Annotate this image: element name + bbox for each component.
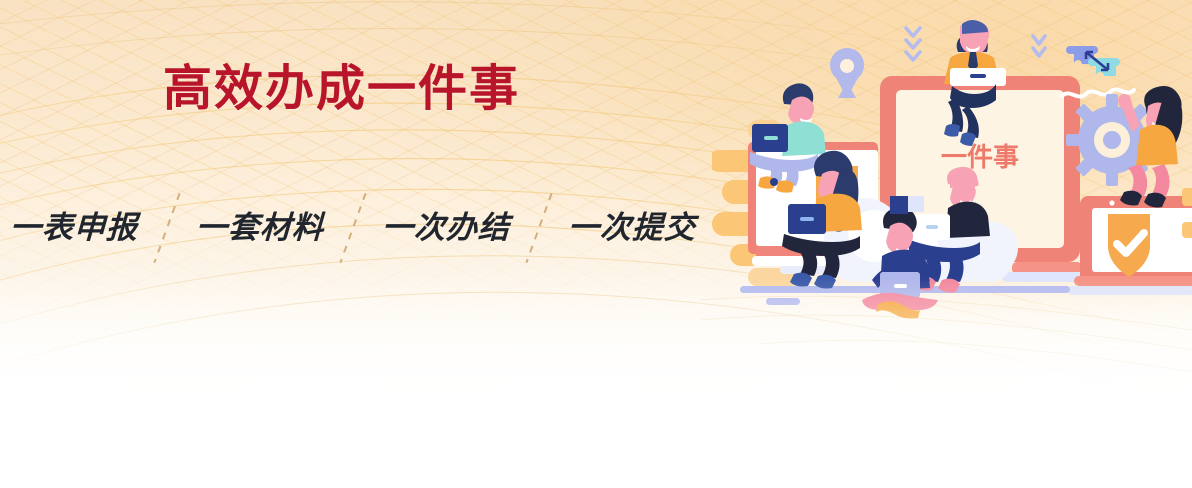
subtitle-item-1: 一表申报 <box>9 213 138 244</box>
subtitle-item-4: 一次提交 <box>567 213 696 244</box>
hero-illustration: 一件事 <box>712 0 1192 320</box>
subtitle-separator-2 <box>324 192 382 264</box>
subtitle-separator-1 <box>138 192 196 264</box>
page-title: 高效办成一件事 <box>163 64 520 113</box>
chevron-arrows-left <box>906 28 920 60</box>
subtitle-separator-3 <box>510 192 568 264</box>
puzzle-pieces-icon <box>1066 46 1120 76</box>
hero-banner: 一件事 <box>0 0 1192 488</box>
hero-copy: 高效办成一件事 一表申报 一套材料 一次办结 一次提交 <box>0 0 720 300</box>
location-pin-icon <box>830 48 864 98</box>
chevron-arrows-right <box>1033 36 1045 56</box>
subtitle-item-2: 一套材料 <box>195 213 324 244</box>
subtitle-row: 一表申报 一套材料 一次办结 一次提交 <box>10 192 696 264</box>
monitor-screen-label: 一件事 <box>941 143 1019 173</box>
subtitle-item-3: 一次办结 <box>381 213 510 244</box>
